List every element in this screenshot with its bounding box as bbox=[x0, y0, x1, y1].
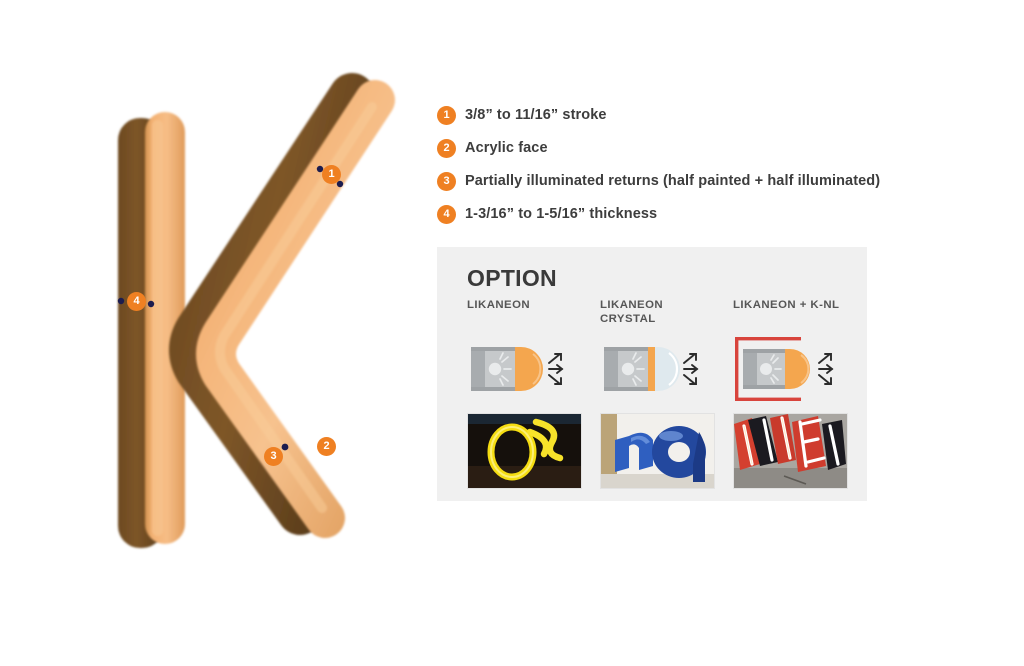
spec-badge-1: 1 bbox=[437, 106, 456, 125]
channel-back-wall bbox=[743, 349, 757, 389]
artwork-marker-3[interactable]: 3 bbox=[264, 447, 283, 466]
option-column-likaneon-crystal[interactable]: LIKANEON CRYSTAL bbox=[600, 299, 724, 489]
spec-item-4: 4 1-3/16” to 1-5/16” thickness bbox=[437, 203, 957, 225]
spec-label-4: 1-3/16” to 1-5/16” thickness bbox=[465, 206, 657, 222]
option-label-likaneon-crystal: LIKANEON CRYSTAL bbox=[600, 299, 724, 327]
light-emission-arrows bbox=[549, 354, 562, 384]
option-panel: OPTION LIKANEON bbox=[437, 247, 867, 501]
option-label-line1: LIKANEON bbox=[600, 299, 663, 311]
option-label-likaneon: LIKANEON bbox=[467, 299, 591, 327]
spec-badge-2: 2 bbox=[437, 139, 456, 158]
artwork-marker-1[interactable]: 1 bbox=[322, 165, 341, 184]
acrylic-face-dome bbox=[785, 349, 810, 389]
option-label-line2: CRYSTAL bbox=[600, 313, 656, 325]
cross-section-diagram-likaneon bbox=[467, 333, 591, 405]
spec-badge-3: 3 bbox=[437, 172, 456, 191]
spec-label-2: Acrylic face bbox=[465, 140, 548, 156]
letter-k-artwork-svg bbox=[0, 0, 440, 620]
spec-item-3: 3 Partially illuminated returns (half pa… bbox=[437, 170, 957, 192]
spec-badge-4: 4 bbox=[437, 205, 456, 224]
spec-item-1: 1 3/8” to 11/16” stroke bbox=[437, 104, 957, 126]
option-column-likaneon-knl[interactable]: LIKANEON + K-NL bbox=[733, 299, 857, 489]
channel-back-wall bbox=[604, 347, 618, 391]
artwork-marker-4[interactable]: 4 bbox=[127, 292, 146, 311]
photo-blue-crystal-letters[interactable] bbox=[600, 413, 715, 489]
cross-section-diagram-crystal bbox=[600, 333, 724, 405]
acrylic-face-dome bbox=[515, 347, 543, 391]
option-panel-title: OPTION bbox=[467, 265, 557, 292]
light-emission-arrows bbox=[684, 354, 697, 384]
artwork-marker-2[interactable]: 2 bbox=[317, 437, 336, 456]
spec-item-2: 2 Acrylic face bbox=[437, 137, 957, 159]
letter-k-3d-render: 1 2 3 4 bbox=[0, 0, 440, 620]
channel-back-wall bbox=[471, 347, 485, 391]
option-label-likaneon-knl: LIKANEON + K-NL bbox=[733, 299, 857, 327]
spec-list: 1 3/8” to 11/16” stroke 2 Acrylic face 3… bbox=[437, 104, 957, 236]
photo-red-white-illuminated-letters[interactable] bbox=[733, 413, 848, 489]
light-emission-arrows bbox=[819, 354, 832, 384]
diagram-canvas: 1 2 3 4 1 3/8” to 11/16” stroke 2 Acryli… bbox=[0, 0, 1024, 666]
option-column-likaneon[interactable]: LIKANEON bbox=[467, 299, 591, 489]
spec-label-1: 3/8” to 11/16” stroke bbox=[465, 107, 607, 123]
spec-label-3: Partially illuminated returns (half pain… bbox=[465, 173, 880, 189]
photo-yellow-neon-letters[interactable] bbox=[467, 413, 582, 489]
acrylic-face-strip bbox=[648, 347, 655, 391]
cross-section-diagram-knl bbox=[733, 333, 857, 405]
